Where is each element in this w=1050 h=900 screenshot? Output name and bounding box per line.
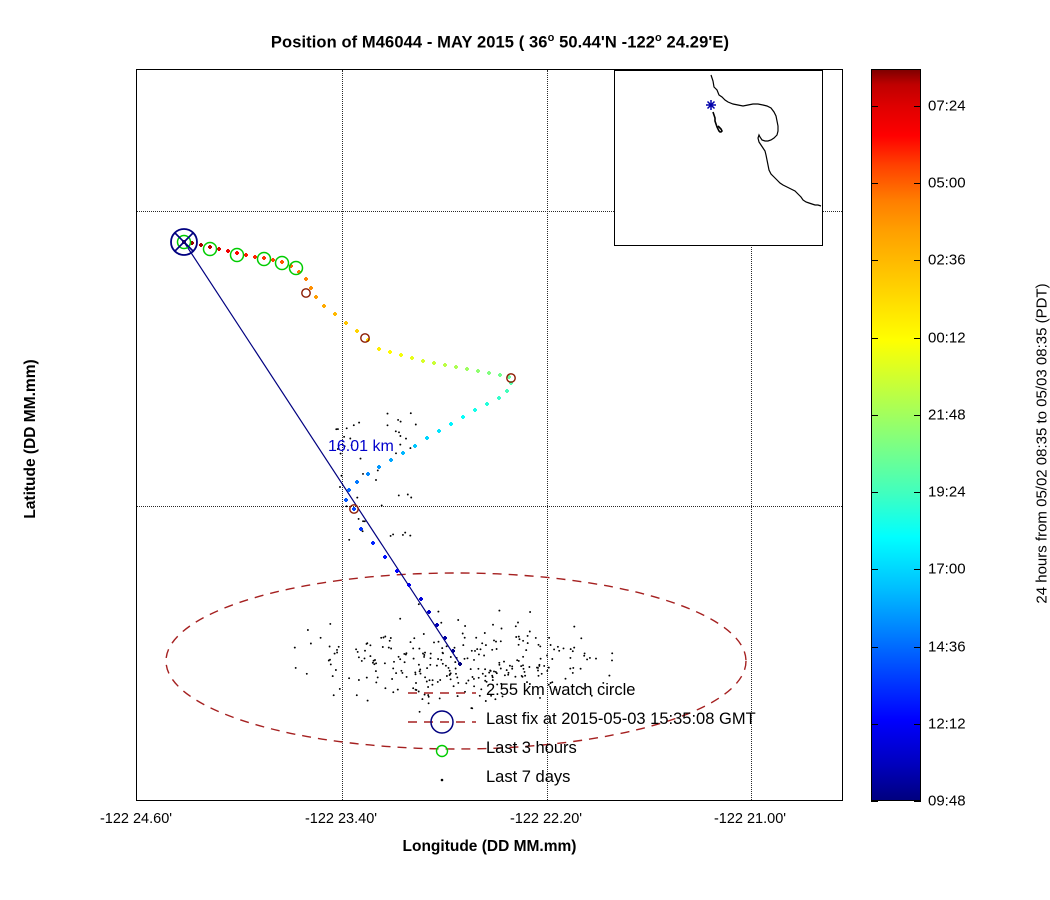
last-7-days-dot bbox=[404, 532, 406, 534]
last-7-days-dot bbox=[399, 658, 401, 660]
track-point bbox=[304, 277, 308, 281]
last-7-days-dot bbox=[382, 646, 384, 648]
last-7-days-dot bbox=[320, 637, 322, 639]
last-7-days-dot bbox=[364, 650, 366, 652]
last-7-days-dot bbox=[389, 640, 391, 642]
last-7-days-dot bbox=[537, 667, 539, 669]
last-7-days-dot bbox=[509, 665, 511, 667]
xtick-label-3: -122 21.00' bbox=[714, 811, 786, 827]
last-7-days-dot bbox=[409, 447, 411, 449]
last-7-days-dot bbox=[472, 676, 474, 678]
last-7-days-dot bbox=[457, 619, 459, 621]
last-7-days-dot bbox=[448, 667, 450, 669]
last-7-days-dot bbox=[399, 444, 401, 446]
last-7-days-dot bbox=[481, 642, 483, 644]
last-7-days-dot bbox=[364, 520, 366, 522]
track-point bbox=[309, 286, 313, 290]
last-7-days-dot bbox=[572, 667, 574, 669]
last-7-days-dot bbox=[412, 647, 414, 649]
track-point bbox=[465, 367, 469, 371]
last-7-days-dot bbox=[383, 637, 385, 639]
last-7-days-dot bbox=[449, 670, 451, 672]
last-7-days-dot bbox=[548, 667, 550, 669]
legend-item-last-fix: Last fix at 2015-05-03 15:35:08 GMT bbox=[406, 708, 846, 737]
last-7-days-dot bbox=[333, 694, 335, 696]
last-7-days-dot bbox=[418, 664, 420, 666]
last-7-days-dot bbox=[570, 648, 572, 650]
last-7-days-dot bbox=[496, 648, 498, 650]
last-7-days-dot bbox=[529, 631, 531, 633]
last-7-days-dot bbox=[611, 652, 613, 654]
last-7-days-dot bbox=[424, 652, 426, 654]
legend-label-last-fix: Last fix at 2015-05-03 15:35:08 GMT bbox=[486, 710, 756, 729]
track-point bbox=[280, 260, 284, 264]
legend-marker-dashed-line bbox=[406, 679, 478, 708]
last-7-days-dot bbox=[415, 424, 417, 426]
last-7-days-dot bbox=[399, 618, 401, 620]
last-7-days-dot bbox=[423, 633, 425, 635]
last-7-days-dot bbox=[441, 647, 443, 649]
last-7-days-dot bbox=[420, 673, 422, 675]
colorbar-tick-label-4: 21:48 bbox=[928, 406, 966, 423]
last-7-days-dot bbox=[375, 681, 377, 683]
last-7-days-dot bbox=[546, 655, 548, 657]
last-7-days-dot bbox=[522, 664, 524, 666]
last-7-days-dot bbox=[402, 534, 404, 536]
legend-label-last-7-days: Last 7 days bbox=[486, 768, 570, 787]
last-7-days-dot bbox=[373, 660, 375, 662]
last-7-days-dot bbox=[454, 661, 456, 663]
last-7-days-dot bbox=[572, 672, 574, 674]
last-7-days-dot bbox=[506, 669, 508, 671]
last-7-days-dot bbox=[355, 648, 357, 650]
track-point bbox=[388, 350, 392, 354]
colorbar-tick-label-1: 05:00 bbox=[928, 175, 966, 192]
last-7-days-dot bbox=[307, 629, 309, 631]
last-7-days-dot bbox=[464, 658, 466, 660]
track-point bbox=[413, 444, 417, 448]
last-7-days-dot bbox=[546, 670, 548, 672]
track-ring-markers bbox=[302, 289, 515, 513]
last-7-days-dot bbox=[400, 421, 402, 423]
track-point bbox=[443, 363, 447, 367]
last-7-days-dot bbox=[518, 636, 520, 638]
xtick-label-0: -122 24.60' bbox=[100, 811, 172, 827]
blue-asterisk-icon bbox=[706, 100, 716, 110]
last-7-days-dot bbox=[409, 535, 411, 537]
last-7-days-dot bbox=[450, 656, 452, 658]
last-7-days-dot bbox=[397, 689, 399, 691]
last-7-days-dot bbox=[437, 658, 439, 660]
last-7-days-dot bbox=[358, 656, 360, 658]
last-7-days-dot bbox=[295, 667, 297, 669]
last-7-days-dot bbox=[413, 637, 415, 639]
coastline-path bbox=[711, 75, 821, 206]
last-7-days-dot bbox=[390, 535, 392, 537]
last-7-days-dot bbox=[580, 637, 582, 639]
track-point bbox=[355, 480, 359, 484]
last-7-days-dot bbox=[357, 651, 359, 653]
last-7-days-dot bbox=[372, 662, 374, 664]
last-7-days-dot bbox=[401, 672, 403, 674]
last-7-days-dot bbox=[480, 648, 482, 650]
last-7-days-dot bbox=[583, 655, 585, 657]
colorbar-tick-mark-6 bbox=[871, 569, 878, 570]
track-point bbox=[253, 255, 257, 259]
last-7-days-dot bbox=[437, 611, 439, 613]
last-7-days-dot bbox=[490, 670, 492, 672]
track-point bbox=[401, 451, 405, 455]
distance-annotation: 16.01 km bbox=[328, 438, 394, 456]
last-7-days-dot bbox=[430, 653, 432, 655]
last-7-days-dot bbox=[306, 673, 308, 675]
last-7-days-dot bbox=[339, 688, 341, 690]
last-7-days-dot bbox=[442, 663, 444, 665]
colorbar-tick-mark-2 bbox=[871, 260, 878, 261]
last-7-days-dot bbox=[498, 664, 500, 666]
legend-label-watch-circle: 2.55 km watch circle bbox=[486, 681, 635, 700]
last-7-days-dot bbox=[455, 673, 457, 675]
last-7-days-dot bbox=[418, 603, 420, 605]
last-7-days-dot bbox=[387, 424, 389, 426]
last-7-days-dot bbox=[329, 659, 331, 661]
last-7-days-dot bbox=[330, 663, 332, 665]
last-7-days-dot bbox=[332, 675, 334, 677]
last-7-days-dot bbox=[375, 670, 377, 672]
colorbar-tick-label-2: 02:36 bbox=[928, 252, 966, 269]
colorbar-tick-mark-6-right bbox=[914, 569, 921, 570]
last-7-days-dot bbox=[329, 646, 331, 648]
last-7-days-dot bbox=[388, 647, 390, 649]
last-7-days-dot bbox=[415, 673, 417, 675]
last-7-days-dot bbox=[476, 648, 478, 650]
last-7-days-dot bbox=[478, 653, 480, 655]
last-7-days-dot bbox=[366, 643, 368, 645]
last-7-days-dot bbox=[511, 665, 513, 667]
last-7-days-dot bbox=[436, 665, 438, 667]
last-7-days-dot bbox=[445, 665, 447, 667]
last-7-days-dot bbox=[464, 625, 466, 627]
last-7-days-dot bbox=[430, 657, 432, 659]
last-7-days-dot bbox=[573, 626, 575, 628]
last-7-days-dot bbox=[518, 644, 520, 646]
legend-marker-dot bbox=[406, 766, 478, 795]
colorbar-tick-mark-1-right bbox=[914, 183, 921, 184]
last-7-days-dot bbox=[589, 657, 591, 659]
track-point bbox=[449, 422, 453, 426]
colorbar-tick-label-5: 19:24 bbox=[928, 484, 966, 501]
last-7-days-dot bbox=[335, 669, 337, 671]
track-point bbox=[437, 429, 441, 433]
legend-item-last-7-days: Last 7 days bbox=[406, 766, 846, 795]
last-7-days-dot bbox=[563, 647, 565, 649]
buoy-track-path bbox=[713, 112, 722, 132]
track-point bbox=[377, 465, 381, 469]
last-7-days-dot bbox=[515, 625, 517, 627]
last-7-days-dot bbox=[423, 656, 425, 658]
track-point bbox=[425, 436, 429, 440]
track-point bbox=[217, 247, 221, 251]
last-7-days-dot bbox=[527, 642, 529, 644]
colorbar-tick-mark-2-right bbox=[914, 260, 921, 261]
last-7-days-dot bbox=[501, 628, 503, 630]
last-7-days-dot bbox=[508, 672, 510, 674]
last-7-days-dot bbox=[462, 644, 464, 646]
last-7-days-dot bbox=[498, 610, 500, 612]
legend-marker-green-circle bbox=[406, 737, 478, 766]
last-7-days-dot bbox=[440, 622, 442, 624]
track-point bbox=[487, 371, 491, 375]
last-7-days-dot bbox=[446, 645, 448, 647]
track-point bbox=[366, 472, 370, 476]
last-7-days-dot bbox=[399, 435, 401, 437]
track-point bbox=[333, 312, 337, 316]
last-7-days-dot bbox=[519, 638, 521, 640]
last-7-days-dot bbox=[353, 424, 355, 426]
last-7-days-dot bbox=[424, 676, 426, 678]
title-suffix: 24.29'E) bbox=[662, 34, 729, 52]
y-axis-label: Latitude (DD MM.mm) bbox=[22, 309, 40, 569]
last-7-days-dot bbox=[410, 497, 412, 499]
track-point bbox=[419, 597, 423, 601]
plot-area: 16.01 km 2.55 km watch circle bbox=[136, 69, 843, 801]
colorbar-tick-mark-5 bbox=[871, 492, 878, 493]
last-7-days-dot bbox=[580, 668, 582, 670]
track-point bbox=[199, 243, 203, 247]
last-7-days-dot bbox=[529, 611, 531, 613]
last-7-days-dot bbox=[294, 647, 296, 649]
last-7-days-dot bbox=[429, 664, 431, 666]
last-7-days-dot bbox=[375, 662, 377, 664]
page-title: Position of M46044 - MAY 2015 ( 36o 50.4… bbox=[0, 32, 1000, 53]
colorbar-tick-label-9: 09:48 bbox=[928, 793, 966, 810]
last-7-days-dot bbox=[338, 646, 340, 648]
legend-marker-last-fix bbox=[406, 708, 478, 737]
last-7-days-dot bbox=[398, 656, 400, 658]
colorbar-tick-mark-3 bbox=[871, 338, 878, 339]
track-point bbox=[473, 408, 477, 412]
last-7-days-dot bbox=[395, 672, 397, 674]
track-point bbox=[226, 249, 230, 253]
last-7-days-dot bbox=[498, 662, 500, 664]
colorbar-tick-label-3: 00:12 bbox=[928, 329, 966, 346]
last-7-days-dot bbox=[310, 643, 312, 645]
last-7-days-dot bbox=[381, 505, 383, 507]
last-7-days-dot bbox=[528, 666, 530, 668]
colorbar-title: 24 hours from 05/02 08:35 to 05/03 08:35… bbox=[1034, 234, 1050, 654]
track-point bbox=[497, 396, 501, 400]
colorbar bbox=[871, 69, 921, 801]
track-point bbox=[505, 389, 509, 393]
last-7-days-dot bbox=[586, 658, 588, 660]
track-point bbox=[344, 498, 348, 502]
legend-item-watch-circle: 2.55 km watch circle bbox=[406, 679, 846, 708]
last-7-days-dot bbox=[521, 675, 523, 677]
track-point bbox=[377, 347, 381, 351]
last-7-days-dot bbox=[358, 679, 360, 681]
legend-label-last-3-hours: Last 3 hours bbox=[486, 739, 577, 758]
last-7-days-dot bbox=[361, 660, 363, 662]
last-7-days-dot bbox=[419, 669, 421, 671]
last-7-days-dot bbox=[511, 668, 513, 670]
last-7-days-dot bbox=[446, 675, 448, 677]
title-prefix: Position of M46044 - MAY 2015 ( 36 bbox=[271, 34, 548, 52]
colorbar-tick-mark-8 bbox=[871, 724, 878, 725]
last-7-days-dot bbox=[392, 533, 394, 535]
last-7-days-dot bbox=[369, 655, 371, 657]
x-axis-label: Longitude (DD MM.mm) bbox=[136, 838, 843, 856]
track-point bbox=[344, 321, 348, 325]
figure-canvas: Position of M46044 - MAY 2015 ( 36o 50.4… bbox=[0, 0, 1050, 900]
last-7-days-dot bbox=[569, 657, 571, 659]
last-7-days-dot bbox=[572, 650, 574, 652]
track-point bbox=[421, 359, 425, 363]
last-7-days-dot bbox=[557, 646, 559, 648]
last-7-days-dot bbox=[491, 675, 493, 677]
last-7-days-dot bbox=[358, 422, 360, 424]
inset-map bbox=[614, 70, 823, 246]
inset-coastline-svg bbox=[615, 71, 823, 246]
last-7-days-dot bbox=[329, 623, 331, 625]
last-7-days-dot bbox=[520, 665, 522, 667]
last-7-days-dot bbox=[538, 644, 540, 646]
last-7-days-dot bbox=[339, 486, 341, 488]
last-7-days-dot bbox=[450, 672, 452, 674]
colorbar-tick-mark-9 bbox=[871, 801, 878, 802]
last-7-days-dot bbox=[348, 677, 350, 679]
last-7-days-dot bbox=[442, 652, 444, 654]
track-point bbox=[410, 356, 414, 360]
track-point bbox=[262, 256, 266, 260]
last-7-days-dot bbox=[398, 494, 400, 496]
track-point bbox=[476, 369, 480, 373]
colorbar-tick-label-0: 07:24 bbox=[928, 97, 966, 114]
last-7-days-dot bbox=[495, 671, 497, 673]
last-7-days-dot bbox=[462, 633, 464, 635]
track-point bbox=[399, 353, 403, 357]
title-mid: 50.44'N -122 bbox=[554, 34, 655, 52]
colorbar-tick-mark-5-right bbox=[914, 492, 921, 493]
track-point bbox=[352, 507, 356, 511]
last-7-days-dot bbox=[537, 670, 539, 672]
last-7-days-dot bbox=[514, 676, 516, 678]
colorbar-tick-mark-3-right bbox=[914, 338, 921, 339]
last-7-days-dot bbox=[569, 668, 571, 670]
track-point bbox=[451, 649, 455, 653]
last-7-days-dot bbox=[414, 671, 416, 673]
last-7-days-dot bbox=[397, 419, 399, 421]
last-7-days-dot bbox=[488, 672, 490, 674]
last-7-days-dot bbox=[548, 637, 550, 639]
last-7-days-dot bbox=[356, 497, 358, 499]
last-7-days-dot bbox=[390, 648, 392, 650]
last-7-days-dot bbox=[367, 700, 369, 702]
last-7-days-dot bbox=[503, 661, 505, 663]
last-7-days-dot bbox=[543, 665, 545, 667]
last-7-days-dot bbox=[373, 663, 375, 665]
last-7-days-dot bbox=[384, 636, 386, 638]
last-7-days-dot bbox=[418, 648, 420, 650]
last-7-days-dot bbox=[384, 662, 386, 664]
last-7-days-dot bbox=[477, 668, 479, 670]
last-7-days-dot bbox=[419, 670, 421, 672]
last-7-days-dot bbox=[362, 473, 364, 475]
last-7-days-dot bbox=[467, 657, 469, 659]
last-7-days-dot bbox=[433, 641, 435, 643]
last-7-days-dot bbox=[423, 654, 425, 656]
last-7-days-dot bbox=[484, 632, 486, 634]
last-7-days-dot bbox=[475, 637, 477, 639]
last-7-days-dot bbox=[523, 668, 525, 670]
last-7-days-dot bbox=[360, 458, 362, 460]
last-7-days-dot bbox=[341, 475, 343, 477]
xtick-label-1: -122 23.40' bbox=[305, 811, 377, 827]
last-7-days-dot bbox=[362, 520, 364, 522]
last-7-days-dot bbox=[387, 413, 389, 415]
track-point bbox=[314, 295, 318, 299]
last-7-days-dot bbox=[527, 635, 529, 637]
last-7-days-dot bbox=[440, 659, 442, 661]
track-point bbox=[485, 402, 489, 406]
track-point bbox=[498, 373, 502, 377]
last-7-days-dot bbox=[334, 653, 336, 655]
colorbar-tick-mark-0-right bbox=[914, 106, 921, 107]
last-7-days-dot bbox=[410, 641, 412, 643]
last-7-days-dot bbox=[484, 668, 486, 670]
track-point bbox=[461, 415, 465, 419]
colorbar-tick-label-7: 14:36 bbox=[928, 638, 966, 655]
last-7-days-dot bbox=[348, 539, 350, 541]
last-7-days-dot bbox=[406, 676, 408, 678]
colorbar-tick-mark-9-right bbox=[914, 801, 921, 802]
last-7-days-dot bbox=[364, 657, 366, 659]
track-point bbox=[389, 458, 393, 462]
last-7-days-dot bbox=[485, 644, 487, 646]
degree-symbol-lon: o bbox=[655, 32, 662, 44]
xtick-label-2: -122 22.20' bbox=[510, 811, 582, 827]
last-7-days-dot bbox=[366, 677, 368, 679]
last-7-days-dot bbox=[495, 641, 497, 643]
last-7-days-dot bbox=[358, 518, 360, 520]
last-7-days-dot bbox=[538, 664, 540, 666]
last-7-days-dot bbox=[551, 658, 553, 660]
last-7-days-dot bbox=[541, 673, 543, 675]
last-7-days-dot bbox=[493, 639, 495, 641]
last-7-days-dot bbox=[337, 428, 339, 430]
last-7-days-dot bbox=[395, 452, 397, 454]
last-7-days-dot bbox=[550, 644, 552, 646]
last-7-days-dot bbox=[422, 653, 424, 655]
last-7-days-dot bbox=[380, 637, 382, 639]
last-7-days-dot bbox=[522, 640, 524, 642]
last-7-days-dot bbox=[500, 668, 502, 670]
track-point bbox=[322, 304, 326, 308]
last-7-days-dot bbox=[449, 674, 451, 676]
last-7-days-dot bbox=[454, 647, 456, 649]
last-7-days-dot bbox=[413, 658, 415, 660]
last-7-days-dot bbox=[524, 671, 526, 673]
track-point bbox=[371, 541, 375, 545]
last-7-days-dot bbox=[405, 652, 407, 654]
last-7-days-dot bbox=[336, 652, 338, 654]
last-7-days-dot bbox=[517, 622, 519, 624]
last-7-days-dot bbox=[393, 661, 395, 663]
last-7-days-dot bbox=[482, 673, 484, 675]
last-7-days-dot bbox=[405, 438, 407, 440]
last-7-days-dot bbox=[473, 659, 475, 661]
last-7-days-dot bbox=[464, 637, 466, 639]
last-7-days-dot bbox=[392, 691, 394, 693]
